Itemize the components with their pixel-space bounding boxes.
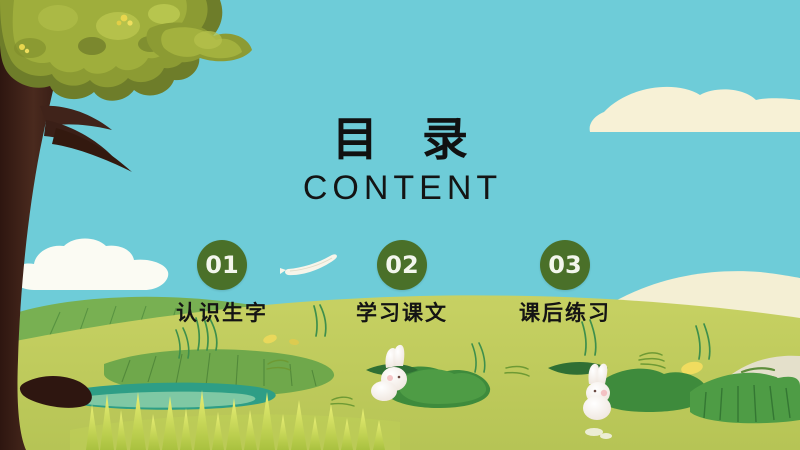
page-title: 目 录 — [0, 112, 800, 166]
title-block: 目 录 CONTENT — [0, 112, 800, 208]
badge-number-02: 02 — [385, 253, 418, 277]
content-item-02[interactable]: 02 学习课文 — [312, 240, 492, 325]
scenery-illustration — [0, 0, 800, 450]
content-item-label-03: 课后练习 — [475, 301, 655, 325]
content-item-03[interactable]: 03 课后练习 — [475, 240, 655, 325]
badge-number-03: 03 — [548, 253, 581, 277]
badge-02[interactable]: 02 — [377, 240, 427, 290]
slide-canvas: 目 录 CONTENT 01 认识生字 02 学习课文 03 课后练习 — [0, 0, 800, 450]
badge-01[interactable]: 01 — [197, 240, 247, 290]
badge-number-01: 01 — [205, 253, 238, 277]
content-item-label-01: 认识生字 — [132, 301, 312, 325]
badge-03[interactable]: 03 — [540, 240, 590, 290]
page-subtitle: CONTENT — [0, 168, 800, 208]
content-item-01[interactable]: 01 认识生字 — [132, 240, 312, 325]
content-item-label-02: 学习课文 — [312, 301, 492, 325]
content-item-list: 01 认识生字 02 学习课文 03 课后练习 — [0, 240, 800, 340]
